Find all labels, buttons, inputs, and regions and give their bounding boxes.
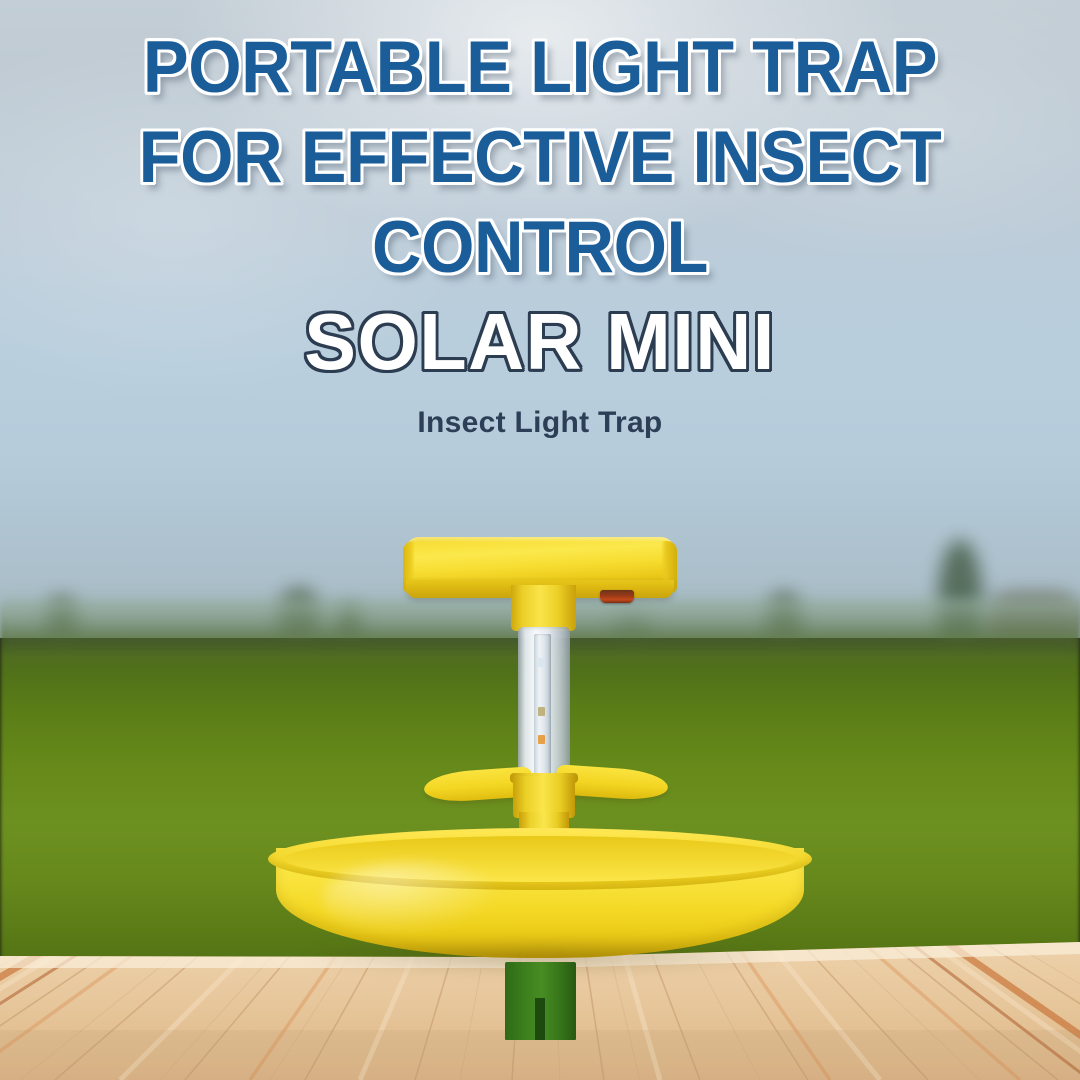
headline-line-3: CONTROL (32, 194, 1047, 284)
bowl-highlight (322, 862, 502, 934)
product-subtitle: Insect Light Trap (0, 406, 1080, 440)
brand-name: SOLAR MINI (16, 302, 1064, 382)
poster-canvas: PORTABLE LIGHT TRAP FOR EFFECTIVE INSECT… (0, 0, 1080, 1080)
power-switch (600, 590, 634, 603)
poster-title-block: PORTABLE LIGHT TRAP FOR EFFECTIVE INSECT… (0, 0, 1080, 440)
led-diode-icon (538, 658, 545, 667)
headline-line-2: FOR EFFECTIVE INSECT (32, 104, 1047, 194)
led-diode-icon (538, 707, 545, 716)
solar-panel-top (403, 537, 677, 585)
panel-neck (511, 585, 576, 631)
ground-stake-slot (535, 998, 545, 1040)
headline-line-1: PORTABLE LIGHT TRAP (32, 0, 1047, 104)
led-diode-icon (538, 735, 545, 744)
